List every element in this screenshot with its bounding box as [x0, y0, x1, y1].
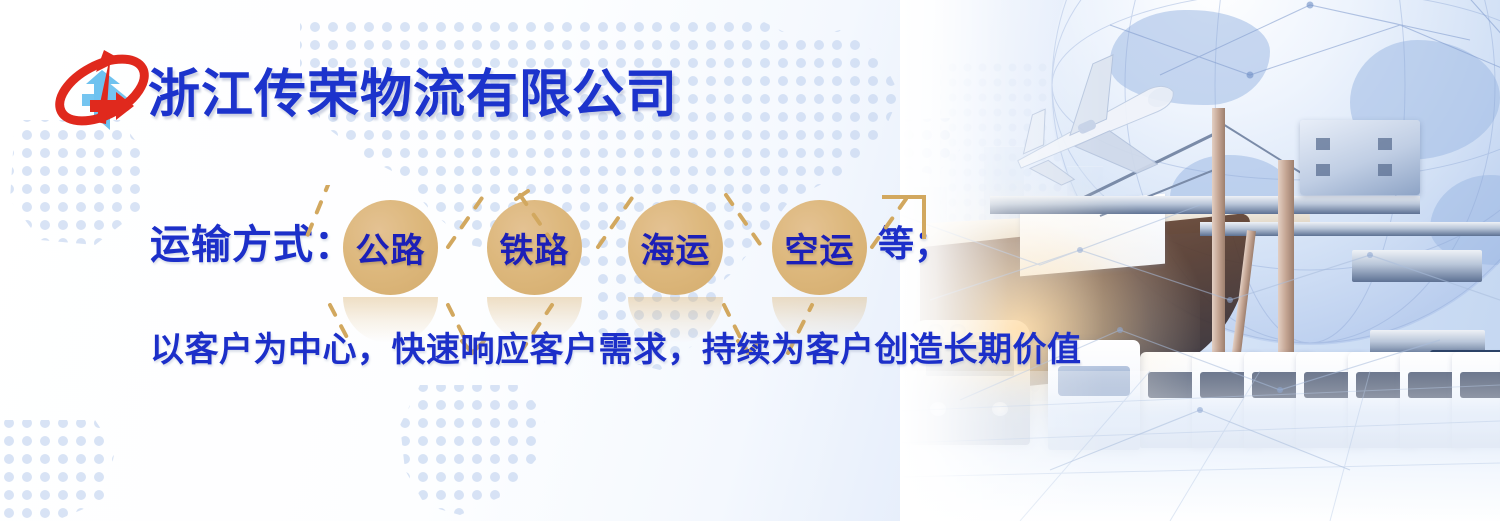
company-tagline: 以客户为中心，快速响应客户需求，持续为客户创造长期价值 [150, 322, 1082, 371]
mode-label-sea: 海运 [641, 223, 711, 272]
logistics-photo-collage [900, 0, 1500, 521]
mode-circle-sea[interactable]: 海运 [628, 200, 723, 295]
mode-label-road: 公路 [356, 223, 426, 272]
mode-circle-air[interactable]: 空运 [772, 200, 867, 295]
network-lines [900, 0, 1500, 521]
transport-modes-row: 运输方式： 公路 铁路 海运 空运 等； [0, 185, 980, 315]
company-name: 浙江传荣物流有限公司 [148, 52, 678, 127]
mode-circle-rail[interactable]: 铁路 [487, 200, 582, 295]
transport-label: 运输方式： [150, 212, 355, 270]
logistics-swoosh-logo [46, 34, 158, 146]
mode-label-air: 空运 [785, 223, 855, 272]
modes-suffix: 等； [878, 215, 950, 267]
logistics-banner: 浙江传荣物流有限公司 [0, 0, 1500, 521]
mode-circle-road[interactable]: 公路 [343, 200, 438, 295]
mode-label-rail: 铁路 [500, 223, 570, 272]
